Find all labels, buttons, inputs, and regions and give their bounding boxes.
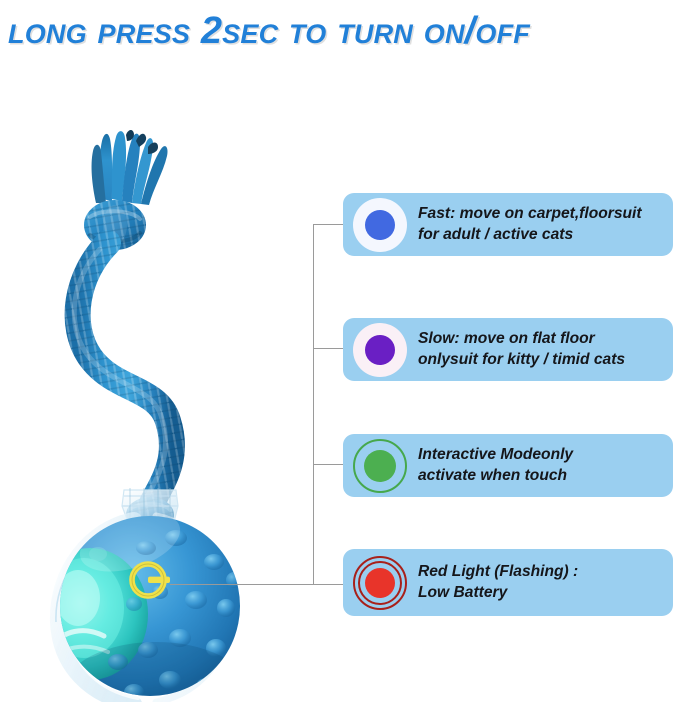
blue-led-indicator bbox=[353, 198, 407, 252]
callout-line: Low Battery bbox=[418, 583, 578, 604]
callout-line: onlysuit for kitty / timid cats bbox=[418, 350, 625, 371]
callout-text-fast: Fast: move on carpet,floorsuit for adult… bbox=[418, 204, 648, 245]
callout-line: Red Light (Flashing) : bbox=[418, 562, 578, 583]
leader-line-from-ball bbox=[170, 584, 313, 585]
callout-line: Slow: move on flat floor bbox=[418, 329, 625, 350]
callout-text-interactive: Interactive Modeonly activate when touch bbox=[418, 445, 579, 486]
callout-mode-fast[interactable]: Fast: move on carpet,floorsuit for adult… bbox=[343, 193, 673, 256]
callout-line: for adult / active cats bbox=[418, 225, 642, 246]
callout-mode-interactive[interactable]: Interactive Modeonly activate when touch bbox=[343, 434, 673, 497]
red-led-indicator bbox=[353, 556, 407, 610]
callout-line: Fast: move on carpet,floorsuit bbox=[418, 204, 642, 225]
callout-text-slow: Slow: move on flat floor onlysuit for ki… bbox=[418, 329, 631, 370]
leader-branch-2 bbox=[313, 348, 344, 349]
page-title: Long Press 2sec to turn on/off bbox=[8, 6, 668, 56]
leader-branch-1 bbox=[313, 224, 344, 225]
callout-line: Interactive Modeonly bbox=[418, 445, 573, 466]
rope-fray bbox=[92, 130, 168, 205]
leader-branch-4 bbox=[313, 584, 344, 585]
leader-branch-3 bbox=[313, 464, 344, 465]
leader-trunk bbox=[313, 224, 314, 585]
cat-ball-toy bbox=[38, 480, 258, 702]
rope-body bbox=[74, 243, 172, 503]
callout-status-low-battery[interactable]: Red Light (Flashing) : Low Battery bbox=[343, 549, 673, 616]
callout-mode-slow[interactable]: Slow: move on flat floor onlysuit for ki… bbox=[343, 318, 673, 381]
purple-led-indicator bbox=[353, 323, 407, 377]
green-led-indicator bbox=[353, 439, 407, 493]
callout-text-low-battery: Red Light (Flashing) : Low Battery bbox=[418, 562, 584, 603]
callout-line: activate when touch bbox=[418, 466, 573, 487]
infographic-canvas: Long Press 2sec to turn on/off bbox=[0, 0, 679, 702]
